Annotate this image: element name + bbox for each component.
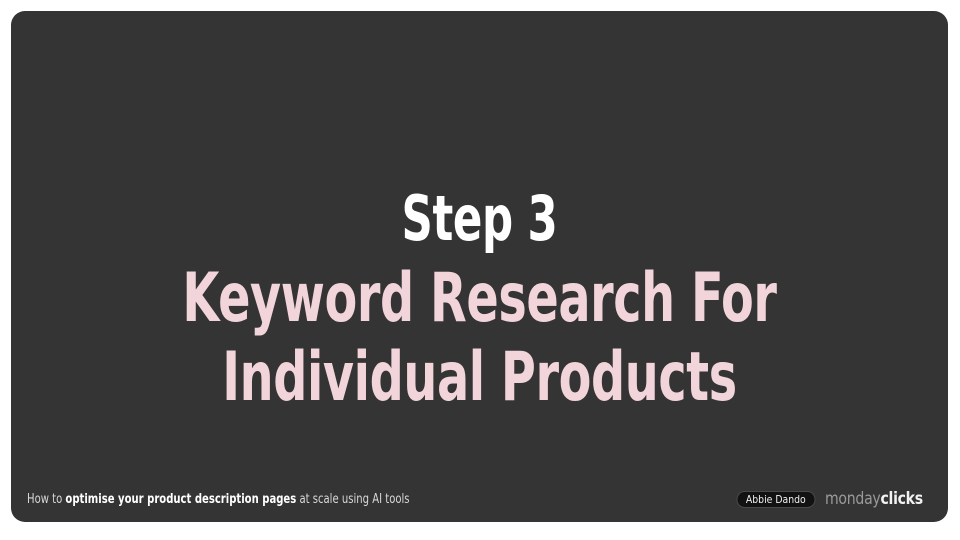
- slide-footer: How to optimise your product description…: [11, 476, 948, 522]
- footer-caption-emphasis: optimise your product description pages: [65, 492, 296, 507]
- brand-logo-clicks: clicks: [880, 489, 922, 509]
- presentation-slide: Step 3 Keyword Research For Individual P…: [11, 11, 948, 522]
- slide-title-block: Step 3 Keyword Research For Individual P…: [11, 189, 948, 418]
- headline-line-1: Keyword Research For: [114, 260, 845, 339]
- footer-caption-tail: at scale using AI tools: [296, 492, 409, 507]
- brand-logo-monday: monday: [825, 489, 880, 509]
- footer-caption: How to optimise your product description…: [27, 493, 410, 506]
- headline-line-2: Individual Products: [114, 339, 845, 418]
- slide-headline: Keyword Research For Individual Products: [114, 260, 845, 418]
- footer-caption-lead: How to: [27, 492, 65, 507]
- author-badge: Abbie Dando: [736, 491, 815, 508]
- brand-logo: mondayclicks: [825, 491, 923, 508]
- footer-brand-group: Abbie Dando mondayclicks: [734, 491, 931, 508]
- step-label: Step 3: [114, 189, 845, 250]
